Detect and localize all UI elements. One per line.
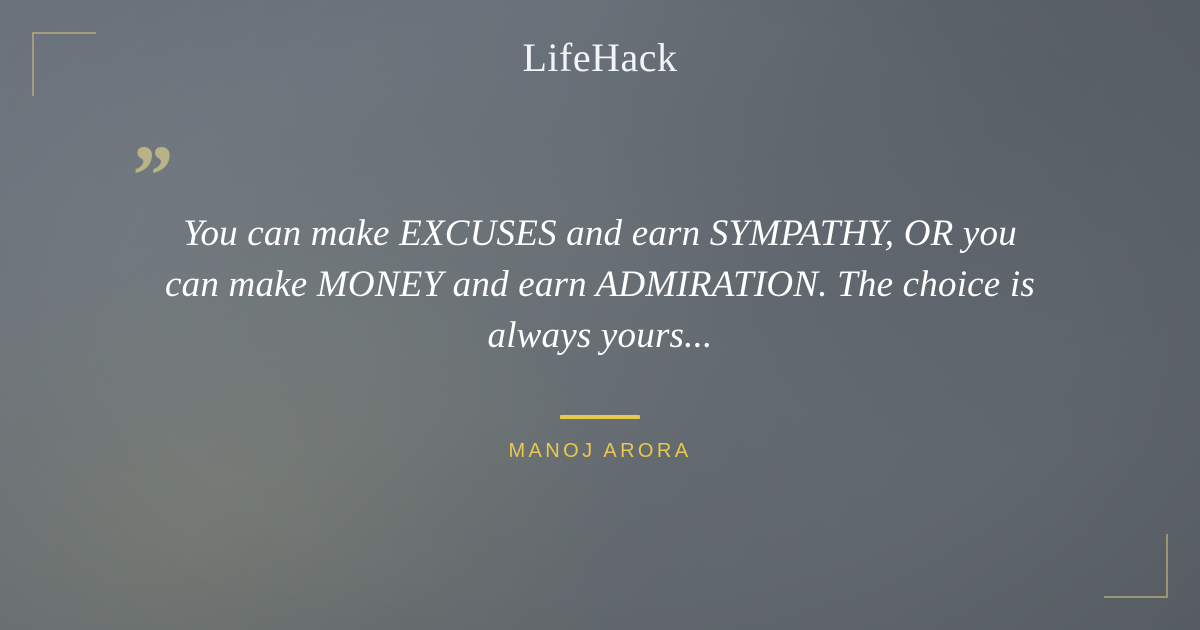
attribution-author: MANOJ ARORA xyxy=(0,440,1200,463)
corner-bracket-bottom-right-icon xyxy=(1104,534,1168,598)
brand-name: LifeHack xyxy=(522,38,677,78)
attribution-divider xyxy=(0,406,1200,424)
quote-text: You can make EXCUSES and earn SYMPATHY, … xyxy=(100,208,1100,361)
divider-rule xyxy=(560,415,640,419)
quote-card: LifeHack ” You can make EXCUSES and earn… xyxy=(0,0,1200,630)
quote-line-3: always yours... xyxy=(100,310,1100,361)
quote-line-2: can make MONEY and earn ADMIRATION. The … xyxy=(100,259,1100,310)
brand-logo: LifeHack xyxy=(0,38,1200,78)
quote-line-1: You can make EXCUSES and earn SYMPATHY, … xyxy=(100,208,1100,259)
author-name: MANOJ ARORA xyxy=(509,440,692,463)
quotation-mark-icon: ” xyxy=(128,132,171,218)
